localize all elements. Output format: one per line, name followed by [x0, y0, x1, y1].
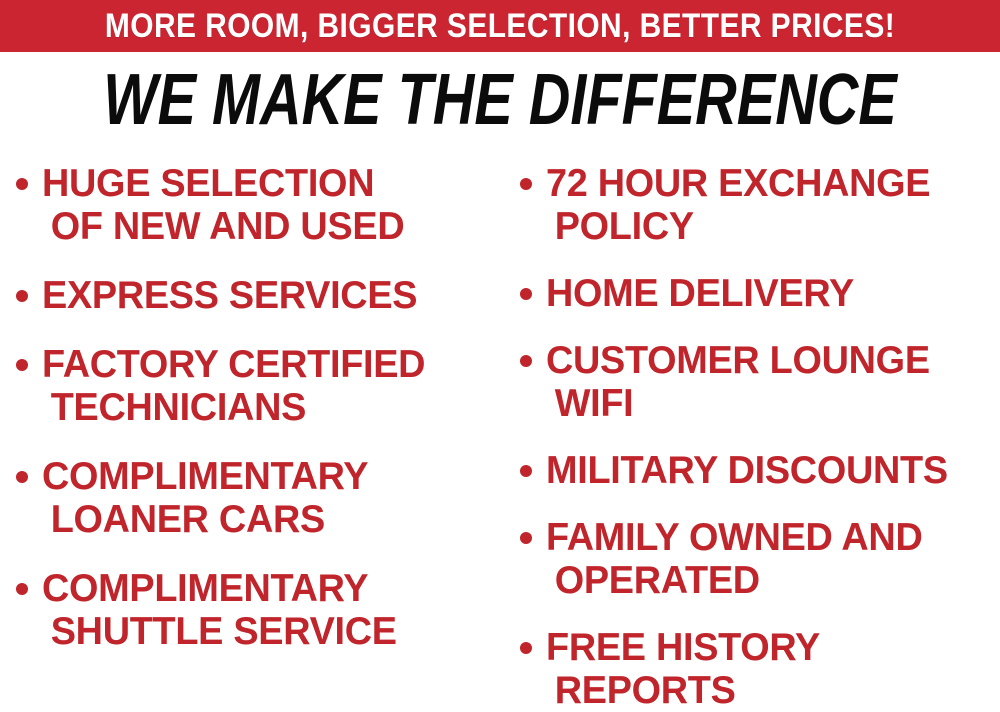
- benefit-text-line: HUGE SELECTION: [42, 162, 486, 205]
- benefit-text-block: MILITARY DISCOUNTS: [546, 449, 1000, 492]
- benefit-text-block: 72 HOUR EXCHANGEPOLICY: [546, 162, 1000, 248]
- benefit-text-block: EXPRESS SERVICES: [42, 274, 500, 317]
- benefit-text-block: FAMILY OWNED ANDOPERATED: [546, 516, 1000, 602]
- benefit-text-line: REPORTS: [546, 669, 986, 712]
- bullet-dot-icon: [520, 178, 532, 190]
- benefit-text-line: POLICY: [546, 205, 986, 248]
- bullet-dot-icon: [520, 642, 532, 654]
- benefit-item: 72 HOUR EXCHANGEPOLICY: [520, 162, 1000, 248]
- benefit-item: HOME DELIVERY: [520, 272, 1000, 315]
- bullet-dot-icon: [520, 532, 532, 544]
- bullet-dot-icon: [16, 471, 28, 483]
- benefit-text-line: WIFI: [546, 382, 986, 425]
- benefit-item: FREE HISTORYREPORTS: [520, 626, 1000, 712]
- benefit-text-line: SHUTTLE SERVICE: [42, 610, 486, 653]
- benefit-item: FACTORY CERTIFIEDTECHNICIANS: [16, 343, 500, 429]
- top-banner: MORE ROOM, BIGGER SELECTION, BETTER PRIC…: [0, 0, 1000, 52]
- benefit-item: CUSTOMER LOUNGEWIFI: [520, 339, 1000, 425]
- benefit-text-line: COMPLIMENTARY: [42, 455, 486, 498]
- benefit-text-block: HOME DELIVERY: [546, 272, 1000, 315]
- bullet-dot-icon: [16, 178, 28, 190]
- benefit-text-line: EXPRESS SERVICES: [42, 274, 486, 317]
- benefits-columns: HUGE SELECTIONOF NEW AND USEDEXPRESS SER…: [0, 150, 1000, 694]
- benefit-text-line: 72 HOUR EXCHANGE: [546, 162, 986, 205]
- bullet-dot-icon: [520, 288, 532, 300]
- bullet-dot-icon: [16, 359, 28, 371]
- benefit-text-line: CUSTOMER LOUNGE: [546, 339, 986, 382]
- benefit-text-line: COMPLIMENTARY: [42, 567, 486, 610]
- benefit-text-line: OF NEW AND USED: [42, 205, 486, 248]
- main-headline-container: WE MAKE THE DIFFERENCE: [0, 58, 1000, 142]
- bullet-dot-icon: [520, 465, 532, 477]
- benefits-column-left: HUGE SELECTIONOF NEW AND USEDEXPRESS SER…: [0, 150, 500, 694]
- benefit-item: COMPLIMENTARYLOANER CARS: [16, 455, 500, 541]
- benefit-text-block: HUGE SELECTIONOF NEW AND USED: [42, 162, 500, 248]
- benefit-text-line: FACTORY CERTIFIED: [42, 343, 486, 386]
- benefit-text-block: COMPLIMENTARYLOANER CARS: [42, 455, 500, 541]
- benefit-text-line: OPERATED: [546, 559, 986, 602]
- bullet-dot-icon: [16, 583, 28, 595]
- benefit-text-line: FREE HISTORY: [546, 626, 986, 669]
- benefit-text-line: FAMILY OWNED AND: [546, 516, 986, 559]
- benefits-column-right: 72 HOUR EXCHANGEPOLICYHOME DELIVERYCUSTO…: [500, 150, 1000, 694]
- benefit-item: HUGE SELECTIONOF NEW AND USED: [16, 162, 500, 248]
- bullet-dot-icon: [16, 290, 28, 302]
- benefit-text-line: HOME DELIVERY: [546, 272, 986, 315]
- promo-poster: MORE ROOM, BIGGER SELECTION, BETTER PRIC…: [0, 0, 1000, 694]
- benefit-item: FAMILY OWNED ANDOPERATED: [520, 516, 1000, 602]
- benefit-text-block: COMPLIMENTARYSHUTTLE SERVICE: [42, 567, 500, 653]
- benefit-text-line: MILITARY DISCOUNTS: [546, 449, 986, 492]
- benefit-text-block: FACTORY CERTIFIEDTECHNICIANS: [42, 343, 500, 429]
- benefit-item: MILITARY DISCOUNTS: [520, 449, 1000, 492]
- benefit-item: COMPLIMENTARYSHUTTLE SERVICE: [16, 567, 500, 653]
- page-title: WE MAKE THE DIFFERENCE: [103, 63, 897, 137]
- benefit-item: EXPRESS SERVICES: [16, 274, 500, 317]
- bullet-dot-icon: [520, 355, 532, 367]
- benefit-text-block: FREE HISTORYREPORTS: [546, 626, 1000, 712]
- benefit-text-line: LOANER CARS: [42, 498, 486, 541]
- banner-headline-text: MORE ROOM, BIGGER SELECTION, BETTER PRIC…: [105, 9, 895, 43]
- benefit-text-block: CUSTOMER LOUNGEWIFI: [546, 339, 1000, 425]
- benefit-text-line: TECHNICIANS: [42, 386, 486, 429]
